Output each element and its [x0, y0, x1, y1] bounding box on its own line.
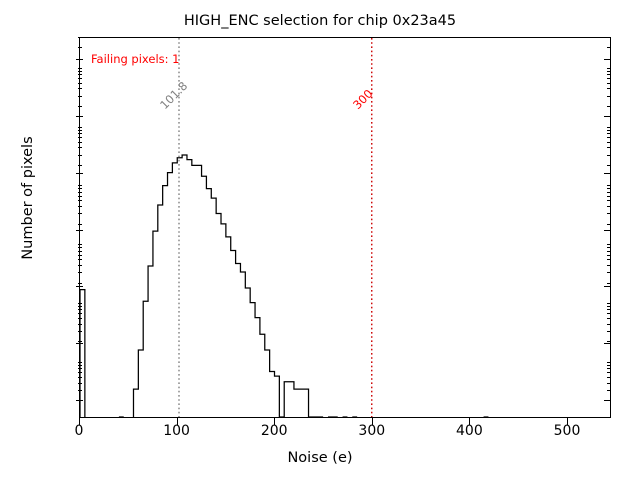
failing-pixels-annotation: Failing pixels: 1	[91, 52, 180, 66]
x-tick-label-500: 500	[537, 423, 597, 439]
page-title: HIGH_ENC selection for chip 0x23a45	[0, 13, 640, 29]
y-axis-label: Number of pixels	[20, 8, 36, 388]
histogram-series	[80, 38, 610, 417]
plot-area	[79, 37, 611, 418]
figure-canvas: HIGH_ENC selection for chip 0x23a45 Numb…	[0, 0, 640, 480]
x-tick-label-100: 100	[147, 423, 207, 439]
x-axis-label: Noise (e)	[0, 450, 640, 466]
x-tick-label-400: 400	[439, 423, 499, 439]
x-tick-label-300: 300	[342, 423, 402, 439]
x-tick-label-0: 0	[49, 423, 109, 439]
histogram-outline	[80, 155, 488, 417]
x-tick-label-200: 200	[244, 423, 304, 439]
